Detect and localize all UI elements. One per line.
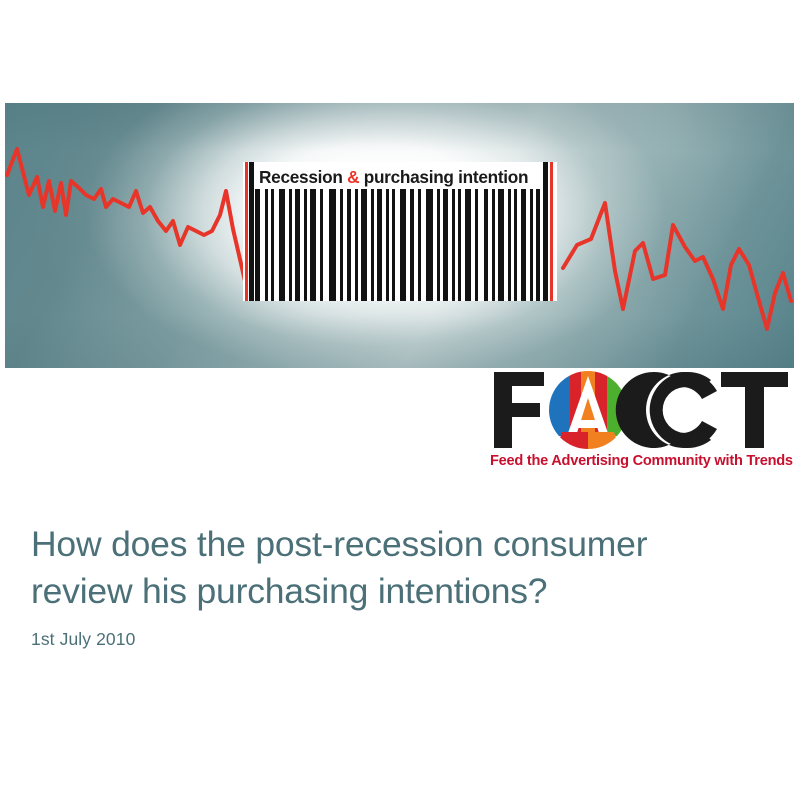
barcode-bar (458, 189, 461, 301)
barcode-bar (279, 189, 285, 301)
barcode-guard-bar-left (249, 162, 254, 301)
barcode-bar (265, 189, 268, 301)
logo-letter-c-solid (650, 372, 711, 448)
page-title: How does the post-recession consumer rev… (31, 521, 761, 615)
barcode-bar (386, 189, 389, 301)
presentation-date: 1st July 2010 (31, 629, 135, 650)
barcode-bar (508, 189, 511, 301)
barcode-bar (271, 189, 274, 301)
chart-line-left (7, 149, 245, 281)
barcode-bar (304, 189, 307, 301)
fact-wordmark (488, 370, 794, 450)
barcode-bar (329, 189, 336, 301)
logo-tagline: Feed the Advertising Community with Tren… (490, 453, 794, 469)
barcode-bar (492, 189, 495, 301)
title-slide: Recession & purchasing intention (0, 0, 800, 800)
barcode-bar (498, 189, 504, 301)
page-title-line-1: How does the post-recession consumer (31, 521, 761, 568)
logo-letter-t (721, 372, 788, 448)
barcode-bar (437, 189, 440, 301)
barcode-bar (320, 189, 323, 301)
barcode-title-text: Recession & purchasing intention (259, 165, 536, 189)
barcode-title-prefix: Recession (259, 167, 347, 187)
barcode-title-suffix: purchasing intention (359, 167, 528, 187)
barcode-bar (371, 189, 374, 301)
barcode-bar (410, 189, 414, 301)
page-title-line-2: review his purchasing intentions? (31, 568, 761, 615)
barcode-bar (295, 189, 300, 301)
barcode-bar (361, 189, 367, 301)
barcode-guard-bar-red-left (245, 162, 248, 301)
barcode-bar (484, 189, 488, 301)
barcode-bar (392, 189, 395, 301)
barcode-graphic: Recession & purchasing intention (243, 162, 557, 301)
barcode-bar (418, 189, 421, 301)
barcode-bar (340, 189, 343, 301)
barcode-bar (521, 189, 526, 301)
logo-letter-f (494, 372, 544, 448)
barcode-bar (355, 189, 358, 301)
barcode-bar (530, 189, 533, 301)
barcode-bar (465, 189, 471, 301)
barcode-guard-bar-right (543, 162, 548, 301)
barcode-bar (452, 189, 455, 301)
barcode-guard-bar-red-right (550, 162, 553, 301)
barcode-title-ampersand: & (347, 167, 359, 187)
barcode-bar (536, 189, 540, 301)
barcode-bar (377, 189, 382, 301)
barcode-bar (255, 189, 260, 301)
barcode-bar (289, 189, 292, 301)
barcode-bar (514, 189, 517, 301)
barcode-bar (347, 189, 351, 301)
barcode-bar (400, 189, 406, 301)
chart-line-right (563, 203, 791, 329)
barcode-bar (443, 189, 448, 301)
barcode-bar (426, 189, 433, 301)
logo-letter-a-foot (556, 432, 620, 450)
barcode-bar (310, 189, 316, 301)
barcode-bar (475, 189, 478, 301)
barcode-bars (243, 189, 557, 301)
fact-logo: Feed the Advertising Community with Tren… (488, 370, 794, 476)
